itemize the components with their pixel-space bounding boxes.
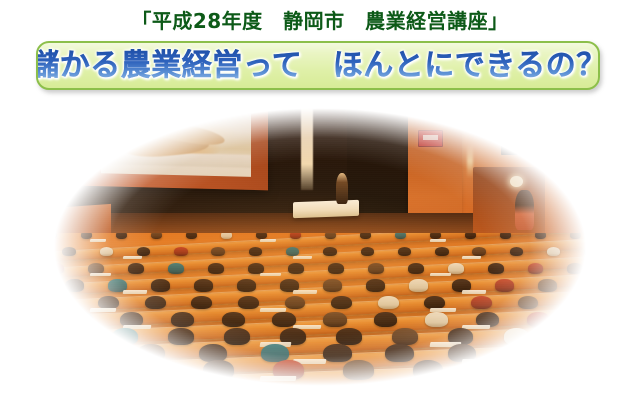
ceiling-speaker [501,110,567,156]
audience-member [495,279,513,291]
audience-member [288,263,304,274]
audience-member [500,233,511,239]
handout-paper [122,256,141,259]
standing-attendee [515,190,534,230]
audience-member [323,312,346,327]
audience-member [211,247,224,256]
audience-member [62,247,75,256]
audience-member [203,360,234,380]
audience-member [374,312,397,327]
audience-member [472,247,485,256]
presenter-figure [336,173,348,204]
photo-canvas [46,104,594,390]
audience-member [385,344,413,362]
handout-paper [429,376,466,381]
audience-member [368,263,384,274]
audience-member [425,312,448,327]
handout-paper [259,239,276,242]
audience-member [171,312,194,327]
audience-member [285,296,306,310]
subtitle-text: 儲かる農業経営って ほんとにできるの？ [36,49,600,83]
handout-paper [292,256,311,259]
audience-member [256,233,267,239]
audience-member [535,233,546,239]
audience-member [221,233,232,239]
audience-member [186,233,197,239]
door-lamp-icon [510,176,523,187]
handout-paper [259,308,286,312]
presenter-table [293,200,359,218]
projection-screen [76,104,268,191]
handout-paper [90,239,107,242]
audience-member [528,263,544,274]
audience-member [518,296,539,310]
audience-member [577,312,594,327]
audience-member [52,296,73,310]
audience-member [547,247,560,256]
audience-member [168,263,184,274]
audience-member [567,263,583,274]
audience-member [471,296,492,310]
audience-member [128,263,144,274]
slide-canvas: 「平成28年度 静岡市 農業経営講座」 儲かる農業経営って ほんとにできるの？ [0,0,640,407]
handout-paper [90,273,112,276]
audience-member [191,296,212,310]
stage-light-slit [301,104,313,190]
audience-member [133,360,164,380]
audience-member [151,279,169,291]
audience-member [48,263,64,274]
page-title: 「平成28年度 静岡市 農業経営講座」 [0,9,640,34]
audience-member [46,233,57,239]
audience-member [272,312,295,327]
audience-member [584,247,594,256]
audience-member [510,247,523,256]
projected-image [101,110,251,177]
audience-member [208,263,224,274]
audience-member [237,279,255,291]
audience-member [69,312,92,327]
audience-member [328,263,344,274]
audience-member [145,296,166,310]
audience-member [488,263,504,274]
handout-paper [462,290,486,294]
audience-member [65,279,83,291]
audience-member [323,344,351,362]
handout-paper [89,308,116,312]
audience-member [323,247,336,256]
audience-member [398,247,411,256]
audience-member [570,233,581,239]
audience-member [504,328,530,345]
audience-member [323,279,341,291]
audience-member [224,328,250,345]
audience-member [360,233,371,239]
audience-member [325,233,336,239]
audience-member [409,279,427,291]
handout-paper [462,256,481,259]
audience-member [286,247,299,256]
audience-member [510,344,538,362]
audience-member [408,263,424,274]
audience-member [151,233,162,239]
audience-member [483,360,514,380]
audience-member [395,233,406,239]
handout-paper [429,239,446,242]
stage-side-panel [51,203,111,236]
audience-member [81,233,92,239]
audience-member [331,296,352,310]
audience-member [249,247,262,256]
audience-seating [46,233,594,390]
audience-member [572,344,594,362]
handout-paper [122,290,146,294]
audience-member [168,328,194,345]
audience-member [343,360,374,380]
audience-member [238,296,259,310]
audience-member [435,247,448,256]
audience-member [392,328,418,345]
handout-paper [259,376,296,381]
audience-member [100,247,113,256]
handout-paper [259,273,281,276]
audience-member [559,328,585,345]
handout-paper [429,273,451,276]
audience-member [194,279,212,291]
audience-member [336,328,362,345]
audience-member [361,247,374,256]
audience-member [538,279,556,291]
handout-paper [429,308,456,312]
audience-member [366,279,384,291]
audience-member [465,233,476,239]
audience-member [378,296,399,310]
seminar-photo [46,104,594,390]
handout-paper [89,376,126,381]
audience-member [430,233,441,239]
audience-member [116,233,127,239]
audience-member [564,296,585,310]
audience-member [222,312,245,327]
audience-member [527,312,550,327]
audience-member [56,328,82,345]
audience-member [174,247,187,256]
handout-paper [292,290,316,294]
audience-member [552,360,583,380]
subtitle-banner: 儲かる農業経営って ほんとにできるの？ [36,41,600,90]
audience-member [290,233,301,239]
audience-member [137,247,150,256]
exit-sign-icon [418,130,443,147]
